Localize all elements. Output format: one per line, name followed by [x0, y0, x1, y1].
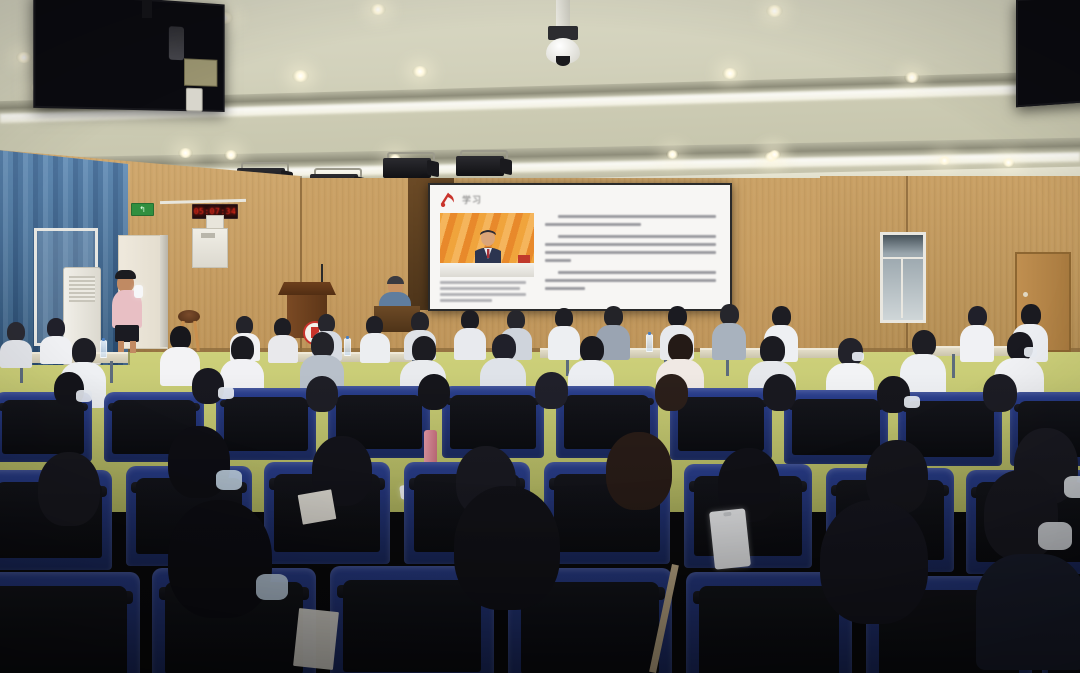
attendee-torso — [960, 325, 994, 362]
attendee — [360, 316, 390, 362]
attendee-head — [461, 310, 479, 330]
ceiling-mounted-tv-right — [1016, 0, 1080, 107]
attendee — [20, 452, 120, 548]
slide-paragraph-line — [558, 215, 716, 218]
slide-paragraph-line — [545, 251, 716, 254]
slide-photo-caption — [440, 293, 526, 296]
attendee-head — [655, 374, 688, 411]
table-leg — [952, 354, 955, 378]
attendee — [0, 322, 32, 368]
phone-notch — [723, 512, 732, 517]
attendee-torso — [976, 554, 1080, 670]
panel-label-plate — [201, 233, 215, 238]
notebook-page — [298, 489, 337, 524]
slide-paragraph-line — [545, 287, 585, 290]
attendee-head — [1021, 304, 1041, 326]
slide-paragraph-line — [545, 243, 716, 246]
face-mask — [1038, 522, 1072, 550]
slide-photo-caption — [440, 299, 492, 302]
attendee-head — [604, 306, 623, 327]
slide-paragraph-line — [558, 235, 716, 238]
face-mask — [852, 352, 864, 361]
attendee-head — [7, 322, 25, 342]
attendee-head — [877, 376, 910, 413]
exit-sign: ↰ — [131, 203, 154, 216]
photographer-leg — [130, 341, 136, 353]
recessed-downlight — [768, 150, 781, 159]
attendee — [40, 372, 96, 430]
photographer-shorts — [115, 325, 139, 342]
face-mask — [218, 387, 234, 399]
recessed-downlight — [904, 72, 920, 83]
attendee-head — [168, 500, 272, 618]
attendee — [748, 374, 810, 438]
attendee-head — [555, 308, 573, 328]
attendee-torso — [360, 333, 390, 363]
recessed-downlight — [722, 68, 738, 79]
attendee — [268, 318, 298, 362]
attendee — [976, 470, 1080, 670]
face-mask — [904, 396, 920, 408]
stage-spotlight — [383, 152, 439, 178]
attendee-head — [760, 336, 785, 364]
stage-spotlight — [456, 150, 512, 176]
slide-photo-caption — [440, 287, 520, 290]
slide-photo-caption — [440, 281, 526, 284]
attendee-head — [763, 374, 796, 411]
recessed-downlight — [666, 150, 679, 159]
attendee-torso — [268, 335, 298, 363]
face-mask — [1024, 347, 1037, 357]
auditorium-photo: ↰ 05:07:34 学习 — [0, 0, 1080, 673]
recessed-downlight — [938, 156, 951, 165]
ceiling-mounted-tv-left — [33, 0, 224, 112]
attendee-head — [580, 336, 604, 363]
slide-photo-nameplate — [518, 255, 530, 263]
attendee — [520, 372, 582, 436]
face-mask — [216, 470, 242, 490]
attendee-torso — [0, 340, 32, 368]
attendee-head — [418, 374, 450, 410]
slide-photo-desk — [440, 263, 534, 277]
presenter-hair-icon — [387, 276, 404, 284]
notebook-page — [293, 608, 339, 670]
window-mullion-horizontal — [883, 257, 923, 259]
wall-control-box[interactable] — [206, 215, 224, 229]
attendee-head — [47, 318, 65, 338]
tv-mount-bracket — [169, 26, 184, 60]
slide-paragraph-line — [558, 271, 716, 274]
ceiling-equipment-box — [184, 58, 217, 86]
attendee-head — [492, 334, 516, 361]
attendee-head — [668, 334, 693, 362]
ac-vent-grill — [69, 276, 95, 302]
tv-ceiling-stem — [142, 0, 152, 18]
window-mullion-vertical — [901, 257, 903, 318]
attendee-head — [192, 368, 224, 404]
attendee — [640, 374, 702, 438]
photographer-cap-icon — [115, 270, 136, 279]
slide-paragraph-line — [545, 223, 641, 226]
slide-title: 学习 — [462, 193, 482, 206]
attendee — [862, 376, 924, 440]
table-leg — [110, 361, 113, 383]
attendee — [178, 368, 236, 430]
projection-screen: 学习 — [428, 183, 732, 311]
attendee-head — [306, 376, 338, 412]
attendee-head — [720, 304, 739, 325]
attendee — [588, 432, 692, 536]
attendee-head — [454, 486, 560, 610]
slide-photo-figure — [470, 229, 506, 267]
attendee — [404, 374, 464, 436]
photographer-person — [110, 268, 144, 352]
recessed-downlight — [224, 150, 238, 160]
attendee-torso — [712, 323, 746, 360]
photographer-phone[interactable] — [134, 285, 143, 298]
slide-photo — [440, 213, 534, 277]
electrical-panel[interactable] — [192, 228, 228, 268]
attendee — [292, 376, 352, 438]
attendee-phone[interactable] — [709, 508, 751, 569]
attendee — [436, 486, 588, 656]
party-emblem-icon — [438, 191, 458, 209]
attendee — [960, 306, 994, 362]
recessed-downlight — [412, 66, 428, 77]
attendee-head — [38, 452, 100, 526]
auditorium-seat — [0, 572, 140, 673]
ceiling-junction-box — [186, 88, 203, 112]
recessed-downlight — [370, 4, 386, 15]
recessed-downlight — [766, 5, 783, 17]
attendee-head — [535, 372, 568, 409]
attendee-head — [606, 432, 672, 510]
recessed-downlight — [292, 70, 309, 82]
attendee-head — [820, 500, 928, 624]
slide-paragraph-line — [545, 259, 571, 262]
attendee-head — [983, 374, 1017, 412]
camera-lens-icon — [556, 56, 570, 66]
water-bottle — [646, 334, 653, 352]
door-knob-icon[interactable] — [1023, 292, 1028, 297]
attendee — [800, 500, 952, 668]
attendee-head — [668, 306, 687, 327]
attendee-head — [912, 330, 936, 357]
face-mask — [76, 390, 92, 402]
attendee-head — [507, 310, 525, 330]
recessed-downlight — [178, 148, 193, 158]
right-interior-window — [880, 232, 926, 323]
exit-arrow-icon: ↰ — [139, 206, 146, 214]
attendee — [150, 500, 300, 660]
attendee-head — [968, 306, 987, 327]
attendee — [712, 304, 746, 360]
recessed-downlight — [16, 52, 32, 63]
attendee-head — [72, 338, 96, 365]
water-bottle — [344, 338, 351, 356]
slide-paragraph-line — [545, 279, 716, 282]
recessed-downlight — [1002, 158, 1015, 167]
slide-content: 学习 — [430, 185, 730, 309]
lectern-top — [278, 282, 336, 295]
attendee-head — [412, 336, 436, 363]
attendee-head — [411, 312, 429, 332]
face-mask — [256, 574, 288, 600]
attendee-head — [772, 306, 791, 327]
